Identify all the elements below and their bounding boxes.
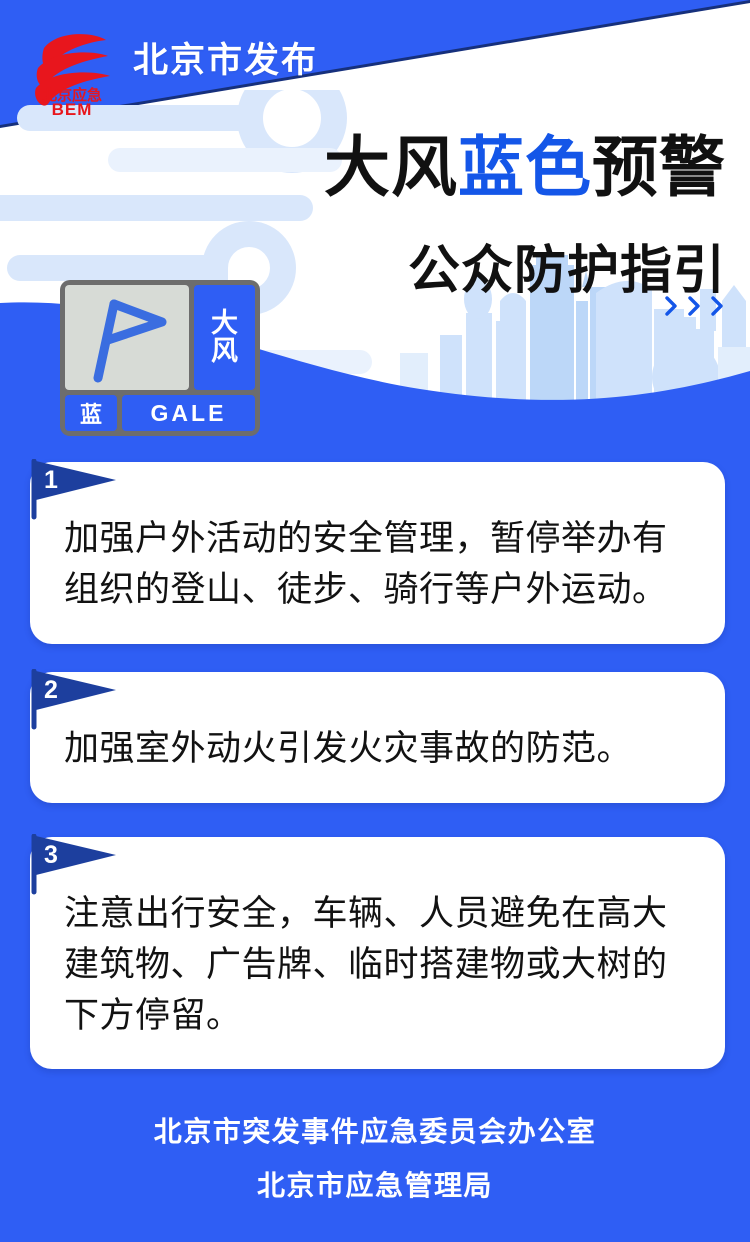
tip-number: 3 (44, 843, 58, 868)
tip-card[interactable]: 1 加强户外活动的安全管理，暂停举办有组织的登山、徒步、骑行等户外运动。 (30, 462, 725, 644)
gale-warning-signal: 大风 蓝 GALE (60, 280, 260, 436)
pennant-flag-icon (28, 834, 120, 896)
tip-number: 2 (44, 678, 58, 703)
bem-logo-icon: 北京应急 BEM (22, 22, 122, 118)
signal-word-label: 大风 (194, 285, 255, 390)
footer-org-primary: 北京市突发事件应急委员会办公室 (0, 1118, 750, 1146)
chevron-group (665, 296, 724, 316)
poster-root: 北京应急 BEM 北京市发布 大风蓝色预警 公众防护指引 (0, 0, 750, 1242)
tip-card[interactable]: 2 加强室外动火引发火灾事故的防范。 (30, 672, 725, 803)
tip-text: 加强户外活动的安全管理，暂停举办有组织的登山、徒步、骑行等户外运动。 (30, 462, 725, 644)
chevron-right-icon (665, 296, 678, 316)
footer-org-secondary: 北京市应急管理局 (0, 1172, 750, 1200)
warning-title-part2: 预警 (592, 130, 726, 204)
warning-title-part1: 大风 (324, 130, 458, 204)
tip-number: 1 (44, 468, 58, 493)
pennant-flag-icon (28, 669, 120, 731)
publisher-title: 北京市发布 (133, 32, 318, 83)
warning-title-accent: 蓝色 (458, 130, 592, 204)
signal-top-row: 大风 (65, 285, 255, 390)
signal-english-label: GALE (122, 395, 255, 431)
tip-text: 加强室外动火引发火灾事故的防范。 (30, 672, 725, 803)
signal-bottom-row: 蓝 GALE (65, 395, 255, 431)
header-section: 北京应急 BEM 北京市发布 大风蓝色预警 公众防护指引 (0, 0, 750, 455)
chevron-right-icon (688, 296, 701, 316)
warning-subtitle: 公众防护指引 (408, 228, 726, 303)
pennant-flag-icon (28, 459, 120, 521)
footer-section: 北京市突发事件应急委员会办公室 北京市应急管理局 (0, 1118, 750, 1226)
wind-flag-icon (65, 285, 189, 390)
warning-title: 大风蓝色预警 (324, 132, 726, 203)
tip-card[interactable]: 3 注意出行安全，车辆、人员避免在高大建筑物、广告牌、临时搭建物或大树的下方停留… (30, 837, 725, 1069)
svg-text:BEM: BEM (52, 100, 93, 118)
chevron-right-icon (711, 296, 724, 316)
signal-level-label: 蓝 (65, 395, 117, 431)
signal-word-char1: 大风 (211, 310, 238, 365)
tip-text: 注意出行安全，车辆、人员避免在高大建筑物、广告牌、临时搭建物或大树的下方停留。 (30, 837, 725, 1069)
